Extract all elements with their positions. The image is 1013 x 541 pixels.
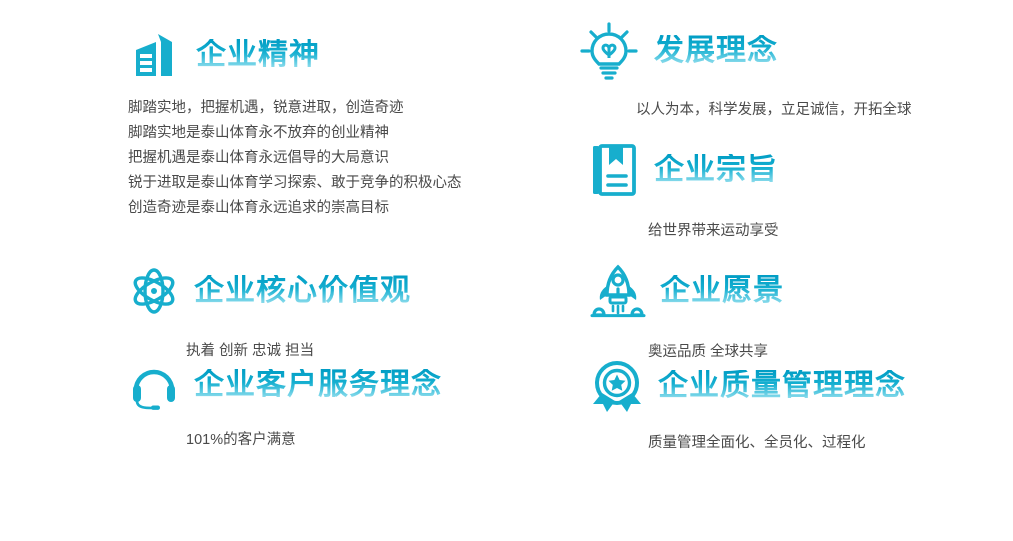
book-icon <box>590 143 640 197</box>
headset-icon <box>128 360 180 410</box>
section-title: 企业愿景 <box>660 275 784 307</box>
section-header: 发展理念 <box>578 22 912 80</box>
section-header: 企业精神 <box>128 28 462 82</box>
section-title: 企业质量管理理念 <box>658 370 906 402</box>
section-enterprise-spirit: 企业精神 脚踏实地，把握机遇，锐意进取，创造奇迹 脚踏实地是泰山体育永不放弃的创… <box>128 28 462 221</box>
body-line: 脚踏实地是泰山体育永不放弃的创业精神 <box>128 121 462 146</box>
body-line: 脚踏实地，把握机遇，锐意进取，创造奇迹 <box>128 96 462 121</box>
section-header: 企业核心价值观 <box>128 265 411 317</box>
section-header: 企业愿景 <box>590 264 784 318</box>
body-line: 锐于进取是泰山体育学习探索、敢于竞争的积极心态 <box>128 171 462 196</box>
section-development-concept: 发展理念 以人为本，科学发展，立足诚信，开拓全球 <box>578 22 912 123</box>
section-header: 企业宗旨 <box>590 143 779 197</box>
section-title: 企业宗旨 <box>654 154 778 186</box>
section-core-values: 企业核心价值观 执着 创新 忠诚 担当 <box>128 265 411 364</box>
body-line: 把握机遇是泰山体育永远倡导的大局意识 <box>128 146 462 171</box>
section-header: 企业客户服务理念 <box>128 360 442 410</box>
section-body: 101%的客户满意 <box>128 428 442 453</box>
atom-icon <box>128 265 180 317</box>
building-icon <box>128 28 182 82</box>
section-body: 脚踏实地，把握机遇，锐意进取，创造奇迹 脚踏实地是泰山体育永不放弃的创业精神 把… <box>128 96 462 221</box>
section-title: 企业精神 <box>196 39 320 71</box>
body-line: 以人为本，科学发展，立足诚信，开拓全球 <box>636 98 912 123</box>
section-title: 发展理念 <box>654 35 778 67</box>
section-customer-service: 企业客户服务理念 101%的客户满意 <box>128 360 442 453</box>
medal-icon <box>590 359 644 413</box>
rocket-icon <box>590 264 646 318</box>
section-title: 企业核心价值观 <box>194 275 411 307</box>
section-body: 以人为本，科学发展，立足诚信，开拓全球 <box>578 98 912 123</box>
body-line: 101%的客户满意 <box>186 428 442 453</box>
section-quality-management: 企业质量管理理念 质量管理全面化、全员化、过程化 <box>590 359 906 456</box>
section-body: 质量管理全面化、全员化、过程化 <box>590 431 906 456</box>
section-enterprise-vision: 企业愿景 奥运品质 全球共享 <box>590 264 784 365</box>
body-line: 质量管理全面化、全员化、过程化 <box>648 431 906 456</box>
company-culture-infographic: 企业精神 脚踏实地，把握机遇，锐意进取，创造奇迹 脚踏实地是泰山体育永不放弃的创… <box>0 0 1013 541</box>
section-header: 企业质量管理理念 <box>590 359 906 413</box>
section-title: 企业客户服务理念 <box>194 369 442 401</box>
body-line: 创造奇迹是泰山体育永远追求的崇高目标 <box>128 196 462 221</box>
section-body: 给世界带来运动享受 <box>590 219 779 244</box>
lightbulb-icon <box>578 22 640 80</box>
section-enterprise-purpose: 企业宗旨 给世界带来运动享受 <box>590 143 779 244</box>
body-line: 给世界带来运动享受 <box>648 219 779 244</box>
